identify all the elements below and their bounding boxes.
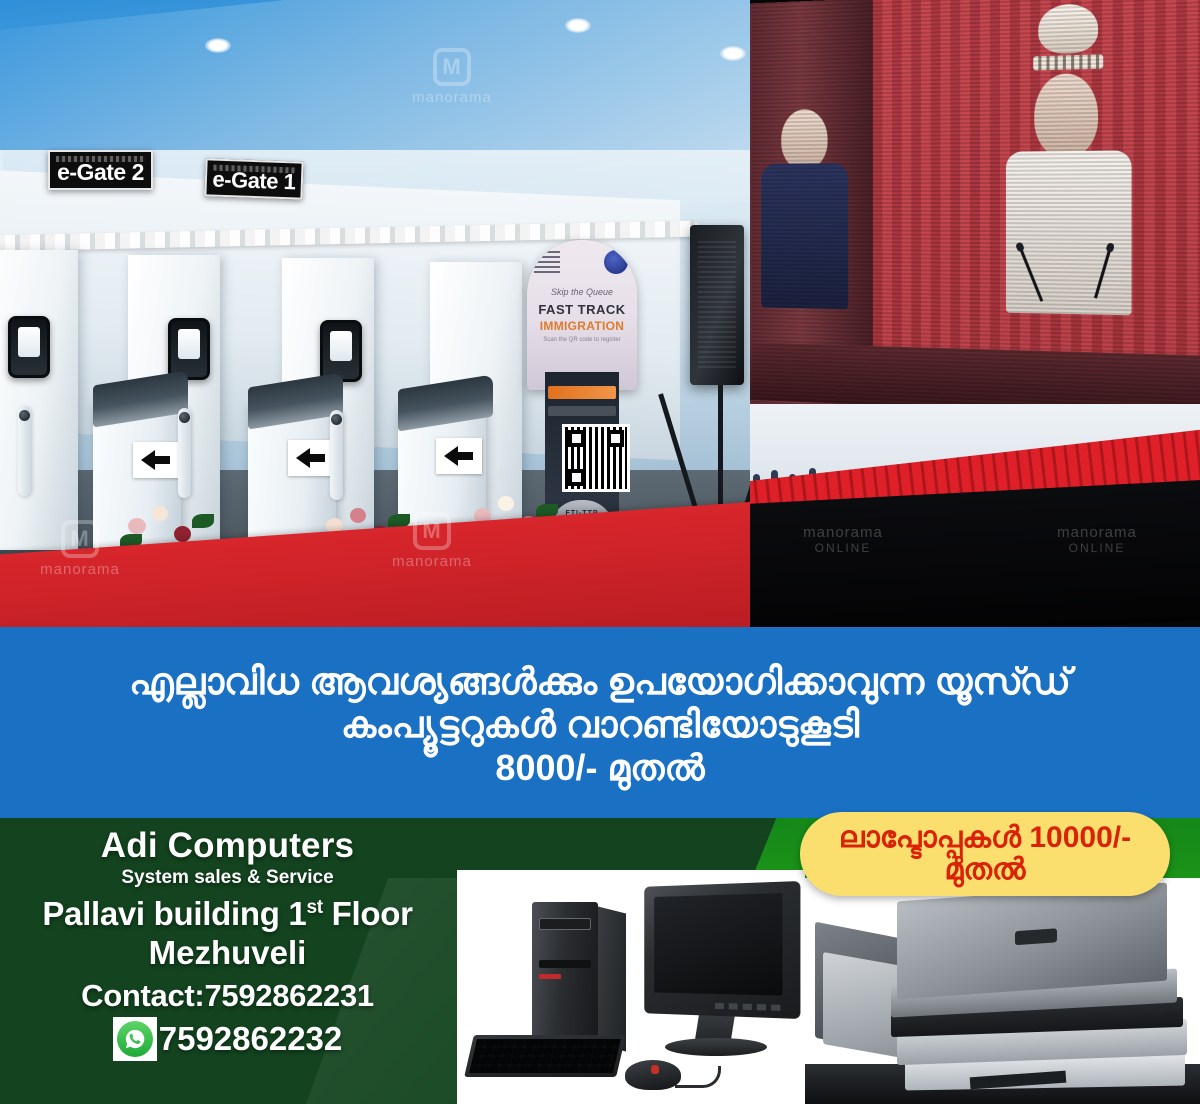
microphone-icon	[1094, 249, 1111, 299]
egate-2-sign: e-Gate 2	[48, 150, 153, 190]
exit-arrow-icon	[133, 442, 179, 478]
speaker-person	[1002, 72, 1136, 309]
standee-orange-band	[548, 386, 616, 399]
standee-line2: FAST TRACK	[527, 302, 637, 317]
egate-1-sign: e-Gate 1	[204, 158, 303, 199]
qr-code-icon	[562, 424, 630, 492]
laptop-price-badge: ലാപ്ടോപ്പുകൾ 10000/- മുതൽ	[800, 812, 1170, 896]
offer-banner-line1: എല്ലാവിധ ആവശ്യങ്ങൾക്കും ഉപയോഗിക്കാവുന്ന …	[129, 660, 1071, 704]
wood-panel	[750, 0, 873, 410]
sign-texture	[56, 156, 145, 162]
pc-tower-side	[598, 907, 626, 1052]
person-head	[1034, 73, 1098, 158]
laptops-photo	[805, 878, 1200, 1104]
standee-textblock	[548, 406, 616, 416]
face-reader-pod	[168, 318, 210, 380]
parliament-photo: manorama ONLINE manorama ONLINE	[750, 0, 1200, 627]
official-person	[761, 108, 850, 303]
pc-dvd-drive	[539, 918, 591, 930]
led-screen	[752, 0, 1200, 424]
face-reader-pod	[8, 316, 50, 378]
shop-details: Adi Computers System sales & Service Pal…	[0, 818, 455, 1104]
fast-track-immigration-standee: Skip the Queue FAST TRACK IMMIGRATION Sc…	[527, 240, 637, 390]
shop-contact[interactable]: Contact:7592862231	[0, 978, 455, 1014]
shop-address-line1: Pallavi building 1st Floor	[0, 895, 455, 933]
shop-address-line2: Mezhuveli	[0, 934, 455, 972]
shop-address-prefix: Pallavi building 1	[42, 895, 306, 932]
qr-eye	[607, 430, 624, 447]
shop-address-ordinal: st	[307, 897, 323, 918]
desktop-computer-photo	[457, 870, 805, 1104]
pc-monitor	[644, 881, 800, 1019]
standee-line1: Skip the Queue	[527, 287, 637, 297]
offer-banner-price: 8000/- മുതൽ	[495, 747, 704, 789]
ceiling-light	[205, 38, 231, 53]
red-curtain	[863, 0, 1200, 424]
qr-eye	[568, 430, 585, 447]
ministry-seal-icon	[604, 250, 628, 274]
photo-collage: e-Gate 2 e-Gate 1	[0, 0, 1200, 627]
gate-panel	[0, 250, 78, 550]
emblem-lion-capital	[1038, 3, 1098, 54]
mouse-cord	[675, 1066, 721, 1088]
pc-keyboard	[464, 1035, 626, 1077]
offer-banner: എല്ലാവിധ ആവശ്യങ്ങൾക്കും ഉപയോഗിക്കാവുന്ന …	[0, 627, 1200, 818]
monitor-screen	[654, 893, 782, 995]
pc-front-slot	[539, 960, 591, 968]
face-reader-pod	[320, 320, 362, 382]
shop-tagline: System sales & Service	[0, 867, 455, 889]
microphone-icon	[1019, 248, 1043, 302]
whatsapp-icon	[117, 1021, 153, 1057]
pc-mouse	[625, 1060, 681, 1090]
offer-banner-line2: കംപ്യൂട്ടറുകൾ വാറണ്ടിയോടുകൂടി	[341, 703, 859, 747]
qr-eye	[568, 469, 585, 486]
bollard	[330, 410, 343, 500]
laptop-item	[897, 883, 1167, 1000]
laptop-price-line1: ലാപ്ടോപ്പുകൾ 10000/-	[839, 822, 1131, 854]
national-emblem-icon	[1030, 0, 1107, 93]
pc-brand-logo	[539, 974, 561, 979]
govt-emblem-icon	[534, 251, 560, 273]
whatsapp-row[interactable]: 7592862232	[0, 1017, 455, 1061]
whatsapp-icon-box	[113, 1017, 157, 1061]
egate-2-label: e-Gate 2	[57, 159, 144, 186]
exit-arrow-icon	[288, 440, 334, 476]
egate-photo: e-Gate 2 e-Gate 1	[0, 0, 750, 627]
standee-line4: Scan the QR code to register	[527, 337, 637, 343]
ceiling-light	[720, 46, 746, 61]
monitor-buttons	[715, 1003, 786, 1011]
bollard	[178, 408, 191, 498]
person-torso	[1006, 150, 1132, 315]
exit-arrow-icon	[436, 438, 482, 474]
whatsapp-number[interactable]: 7592862232	[159, 1020, 343, 1058]
dark-foreground	[750, 480, 1200, 627]
laptop-price-line2: മുതൽ	[945, 854, 1026, 886]
shop-name: Adi Computers	[0, 826, 455, 866]
person-head	[781, 109, 827, 170]
loudspeaker	[690, 225, 744, 385]
bollard	[18, 406, 31, 496]
poster-root: e-Gate 2 e-Gate 1	[0, 0, 1200, 1104]
emblem-base	[1033, 54, 1103, 70]
monitor-stand	[665, 1038, 767, 1056]
person-torso	[761, 163, 848, 309]
ceiling-light	[565, 18, 591, 33]
shop-address-suffix: Floor	[323, 895, 413, 932]
standee-line3: IMMIGRATION	[527, 319, 637, 333]
